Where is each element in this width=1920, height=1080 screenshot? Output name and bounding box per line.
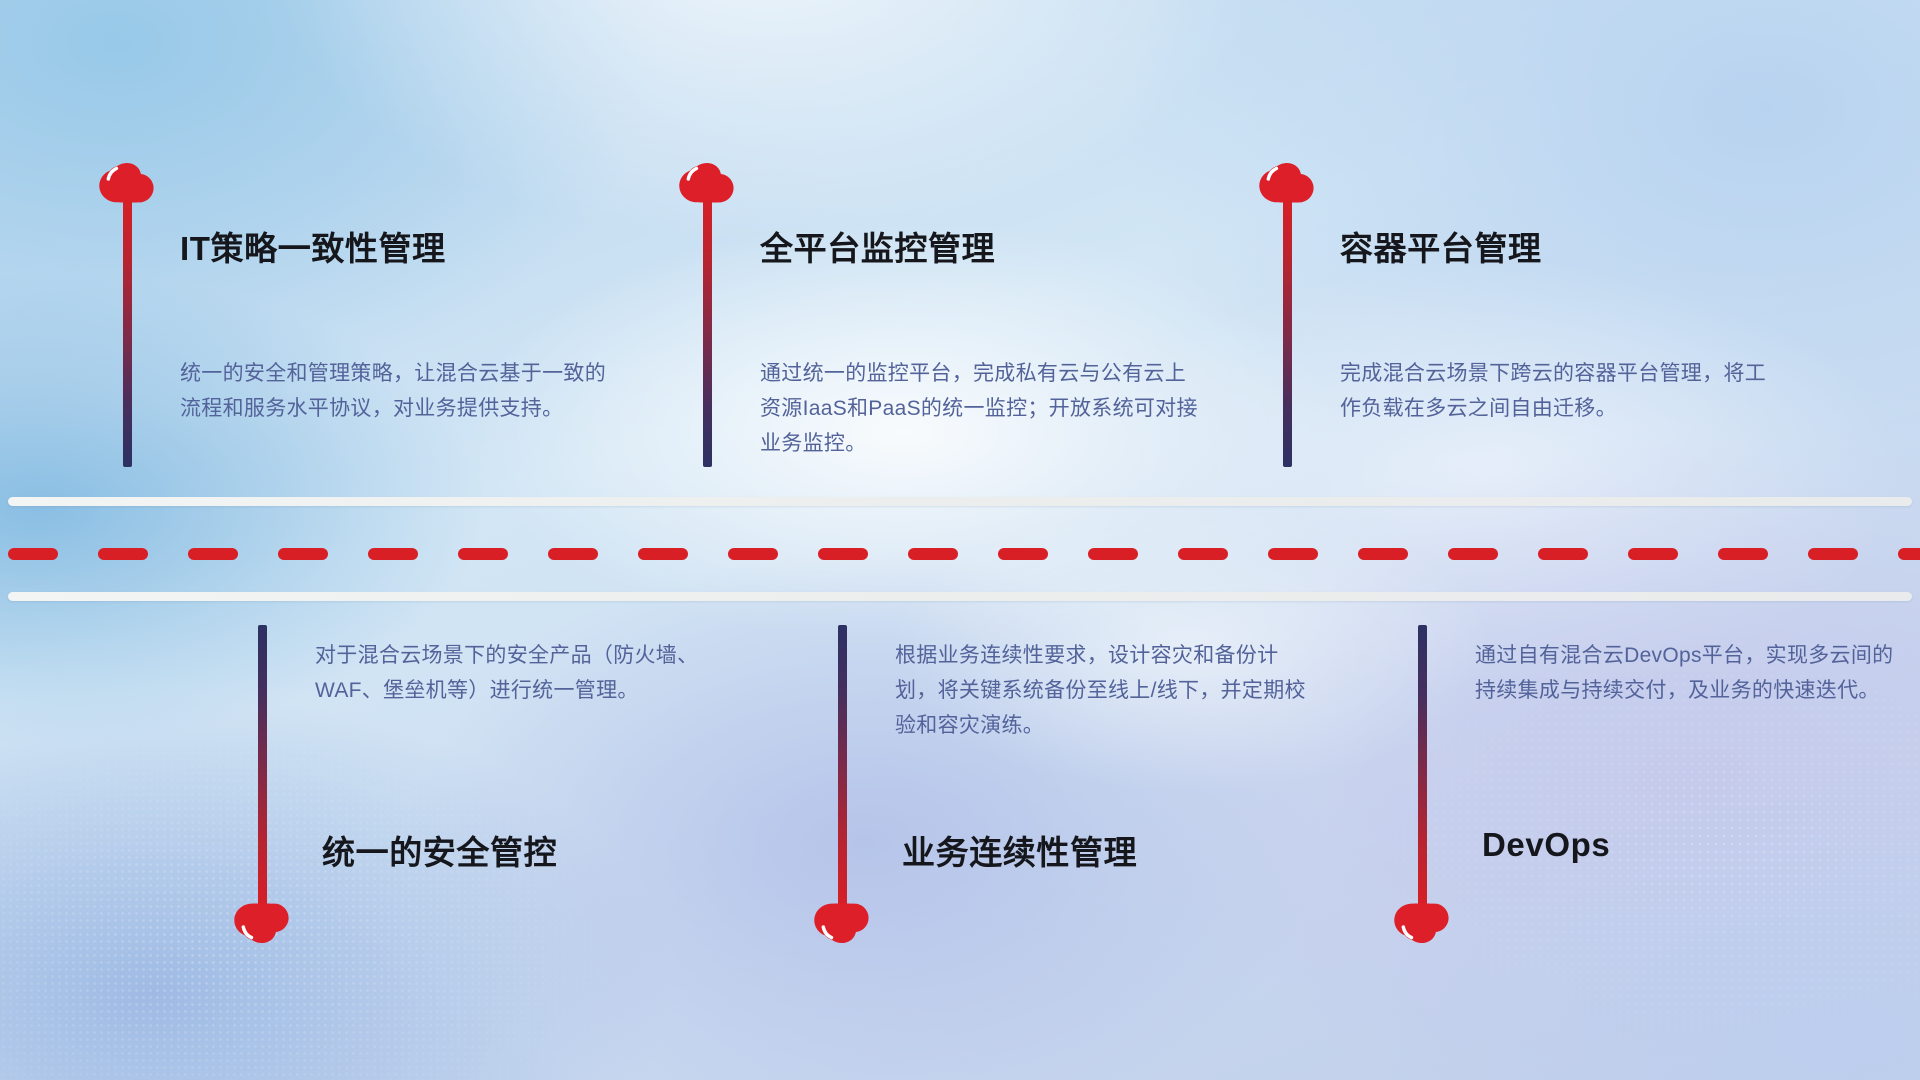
road-dash-segment — [548, 548, 598, 560]
road-dash-segment — [1448, 548, 1498, 560]
road-dash-segment — [638, 548, 688, 560]
top-pin-3-body: 完成混合云场景下跨云的容器平台管理，将工作负载在多云之间自由迁移。 — [1340, 356, 1780, 426]
road-dash-segment — [278, 548, 328, 560]
road-dash-segment — [818, 548, 868, 560]
road-dash-segment — [1628, 548, 1678, 560]
road-dash-segment — [1808, 548, 1858, 560]
road-dash-segment — [368, 548, 418, 560]
top-pin-1-body: 统一的安全和管理策略，让混合云基于一致的流程和服务水平协议，对业务提供支持。 — [180, 356, 612, 426]
road-dash-segment — [8, 548, 58, 560]
top-pin-1-heading: IT策略一致性管理 — [180, 222, 446, 270]
bottom-pin-2-body: 根据业务连续性要求，设计容灾和备份计划，将关键系统备份至线上/线下，并定期校验和… — [895, 638, 1315, 743]
road-dash-segment — [188, 548, 238, 560]
pin-stem — [258, 625, 267, 907]
road-center-dashed-line — [0, 548, 1920, 560]
pin-stem — [123, 200, 132, 467]
road-edge-line-bottom — [8, 592, 1912, 601]
road-dash-segment — [1718, 548, 1768, 560]
road-dash-segment — [98, 548, 148, 560]
top-pin-3-heading: 容器平台管理 — [1340, 222, 1542, 270]
road-dash-segment — [1898, 548, 1920, 560]
cloud-icon — [232, 898, 294, 946]
top-pin-2-body: 通过统一的监控平台，完成私有云与公有云上资源IaaS和PaaS的统一监控；开放系… — [760, 356, 1200, 461]
road-dash-segment — [1268, 548, 1318, 560]
pin-stem — [1418, 625, 1427, 907]
infographic-content: IT策略一致性管理 统一的安全和管理策略，让混合云基于一致的流程和服务水平协议，… — [0, 0, 1920, 1080]
cloud-icon — [1392, 898, 1454, 946]
bottom-pin-1-body: 对于混合云场景下的安全产品（防火墙、WAF、堡垒机等）进行统一管理。 — [315, 638, 735, 708]
cloud-icon — [812, 898, 874, 946]
road-edge-line-top — [8, 497, 1912, 506]
road-dash-segment — [1178, 548, 1228, 560]
road-dash-segment — [1538, 548, 1588, 560]
road-dash-segment — [998, 548, 1048, 560]
bottom-pin-3-heading: DevOps — [1482, 826, 1610, 864]
road-dash-segment — [1088, 548, 1138, 560]
pin-stem — [1283, 200, 1292, 467]
bottom-pin-2-heading: 业务连续性管理 — [902, 826, 1137, 874]
road-dash-segment — [458, 548, 508, 560]
bottom-pin-3-body: 通过自有混合云DevOps平台，实现多云间的持续集成与持续交付，及业务的快速迭代… — [1475, 638, 1895, 708]
road-dash-segment — [1358, 548, 1408, 560]
bottom-pin-1-heading: 统一的安全管控 — [322, 826, 557, 874]
top-pin-2-heading: 全平台监控管理 — [760, 222, 995, 270]
road-dash-segment — [728, 548, 778, 560]
pin-stem — [838, 625, 847, 907]
road-dash-segment — [908, 548, 958, 560]
pin-stem — [703, 200, 712, 467]
